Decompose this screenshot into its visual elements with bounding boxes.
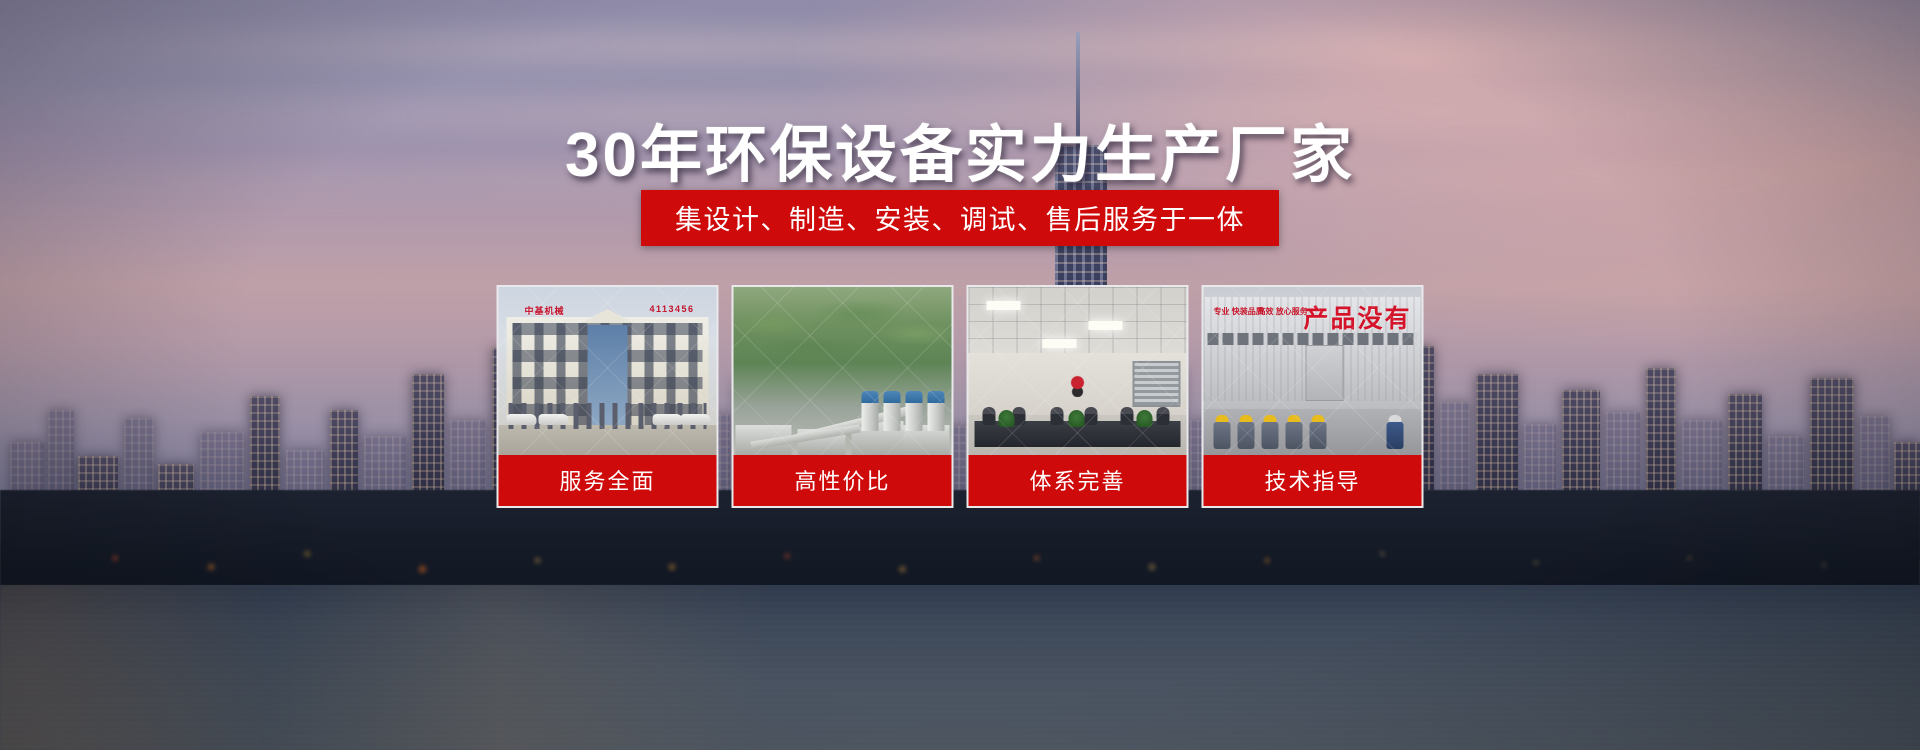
feature-card[interactable]: 产品没有 专业 快装品质 高效 放心服务 技术指导 xyxy=(1202,285,1424,508)
feature-card-list: 中基机械 4113456 服务全面 xyxy=(497,285,1424,508)
subtitle-banner: 集设计、制造、安装、调试、售后服务于一体 xyxy=(641,190,1279,246)
card-photo-office-interior xyxy=(969,287,1187,455)
feature-card[interactable]: 高性价比 xyxy=(732,285,954,508)
card-photo-office-building: 中基机械 4113456 xyxy=(499,287,717,455)
card-caption: 技术指导 xyxy=(1204,455,1422,506)
card-photo-aerial-plant xyxy=(734,287,952,455)
page-title: 30年环保设备实力生产厂家 xyxy=(0,104,1920,194)
card-caption: 高性价比 xyxy=(734,455,952,506)
hero-banner: 30年环保设备实力生产厂家 集设计、制造、安装、调试、售后服务于一体 中基机械 … xyxy=(0,0,1920,750)
factory-slogan-large: 产品没有 xyxy=(1303,299,1411,335)
factory-slogan-small-1: 专业 快装品质 xyxy=(1214,307,1264,317)
building-sign-text: 中基机械 xyxy=(525,304,565,317)
card-caption: 服务全面 xyxy=(499,455,717,506)
card-photo-factory-workers: 产品没有 专业 快装品质 高效 放心服务 xyxy=(1204,287,1422,455)
feature-card[interactable]: 中基机械 4113456 服务全面 xyxy=(497,285,719,508)
building-phone-text: 4113456 xyxy=(649,304,694,314)
card-caption: 体系完善 xyxy=(969,455,1187,506)
feature-card[interactable]: 体系完善 xyxy=(967,285,1189,508)
factory-slogan-small-2: 高效 放心服务 xyxy=(1258,307,1308,317)
